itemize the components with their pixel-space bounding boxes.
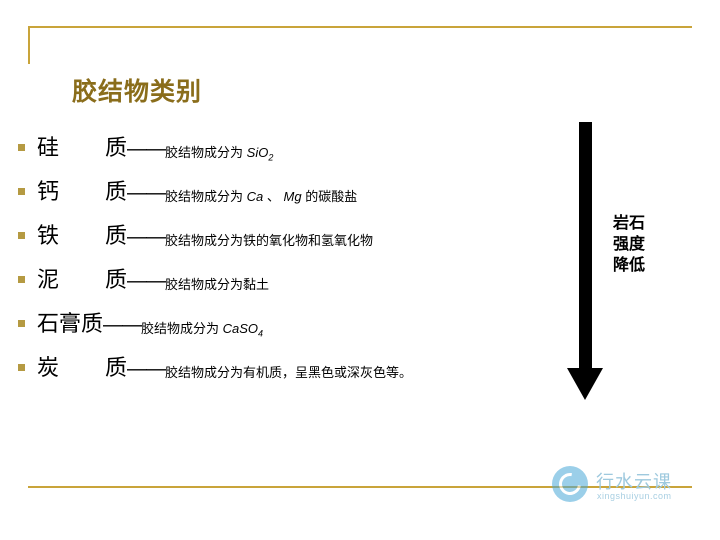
list-item-description: 胶结物成分为铁的氧化物和氢氧化物 bbox=[165, 230, 373, 249]
slide-canvas: 胶结物类别 硅质——胶结物成分为 SiO2 钙质——胶结物成分为 Ca 、 Mg… bbox=[0, 0, 720, 540]
list-item-dash: —— bbox=[127, 270, 165, 293]
list-item: 铁质——胶结物成分为铁的氧化物和氢氧化物 bbox=[18, 218, 578, 250]
square-bullet-icon bbox=[18, 144, 25, 151]
decorative-left-rule bbox=[28, 26, 30, 64]
square-bullet-icon bbox=[18, 232, 25, 239]
list-item-dash: —— bbox=[103, 314, 141, 337]
list-item-term: 炭质 bbox=[37, 350, 127, 382]
arrow-head bbox=[567, 368, 603, 400]
list-item-description: 胶结物成分为有机质，呈黑色或深灰色等。 bbox=[165, 362, 412, 381]
list-item-description: 胶结物成分为 Ca 、 Mg 的碳酸盐 bbox=[165, 186, 357, 205]
arrow-shaft bbox=[579, 122, 592, 370]
page-title: 胶结物类别 bbox=[72, 72, 202, 108]
list-item-term: 钙质 bbox=[37, 174, 127, 206]
list-item: 泥质——胶结物成分为黏土 bbox=[18, 262, 578, 294]
square-bullet-icon bbox=[18, 276, 25, 283]
list-item-term: 石膏质 bbox=[37, 306, 103, 338]
square-bullet-icon bbox=[18, 320, 25, 327]
bullet-list: 硅质——胶结物成分为 SiO2 钙质——胶结物成分为 Ca 、 Mg 的碳酸盐 … bbox=[18, 130, 578, 394]
down-arrow-icon bbox=[567, 122, 607, 402]
arrow-label-line1: 岩石 bbox=[613, 213, 645, 234]
list-item: 硅质——胶结物成分为 SiO2 bbox=[18, 130, 578, 162]
square-bullet-icon bbox=[18, 364, 25, 371]
list-item-description: 胶结物成分为黏土 bbox=[165, 274, 269, 293]
logo-c-glyph bbox=[555, 469, 586, 500]
list-item: 炭质——胶结物成分为有机质，呈黑色或深灰色等。 bbox=[18, 350, 578, 382]
arrow-label-line3: 降低 bbox=[613, 255, 645, 276]
logo-circle-icon bbox=[552, 466, 588, 502]
list-item-description: 胶结物成分为 CaSO4 bbox=[141, 318, 263, 339]
list-item-dash: —— bbox=[127, 182, 165, 205]
decorative-top-rule bbox=[28, 26, 692, 28]
watermark-logo: 行水云课 xingshuiyun.com bbox=[552, 464, 702, 516]
list-item-term: 硅质 bbox=[37, 130, 127, 162]
list-item-description: 胶结物成分为 SiO2 bbox=[165, 142, 273, 163]
square-bullet-icon bbox=[18, 188, 25, 195]
list-item-dash: —— bbox=[127, 358, 165, 381]
list-item: 钙质——胶结物成分为 Ca 、 Mg 的碳酸盐 bbox=[18, 174, 578, 206]
logo-subtitle: xingshuiyun.com bbox=[597, 491, 672, 501]
list-item-term: 铁质 bbox=[37, 218, 127, 250]
list-item-dash: —— bbox=[127, 226, 165, 249]
arrow-label: 岩石 强度 降低 bbox=[613, 213, 645, 276]
list-item-dash: —— bbox=[127, 138, 165, 161]
list-item-term: 泥质 bbox=[37, 262, 127, 294]
list-item: 石膏质——胶结物成分为 CaSO4 bbox=[18, 306, 578, 338]
arrow-label-line2: 强度 bbox=[613, 234, 645, 255]
